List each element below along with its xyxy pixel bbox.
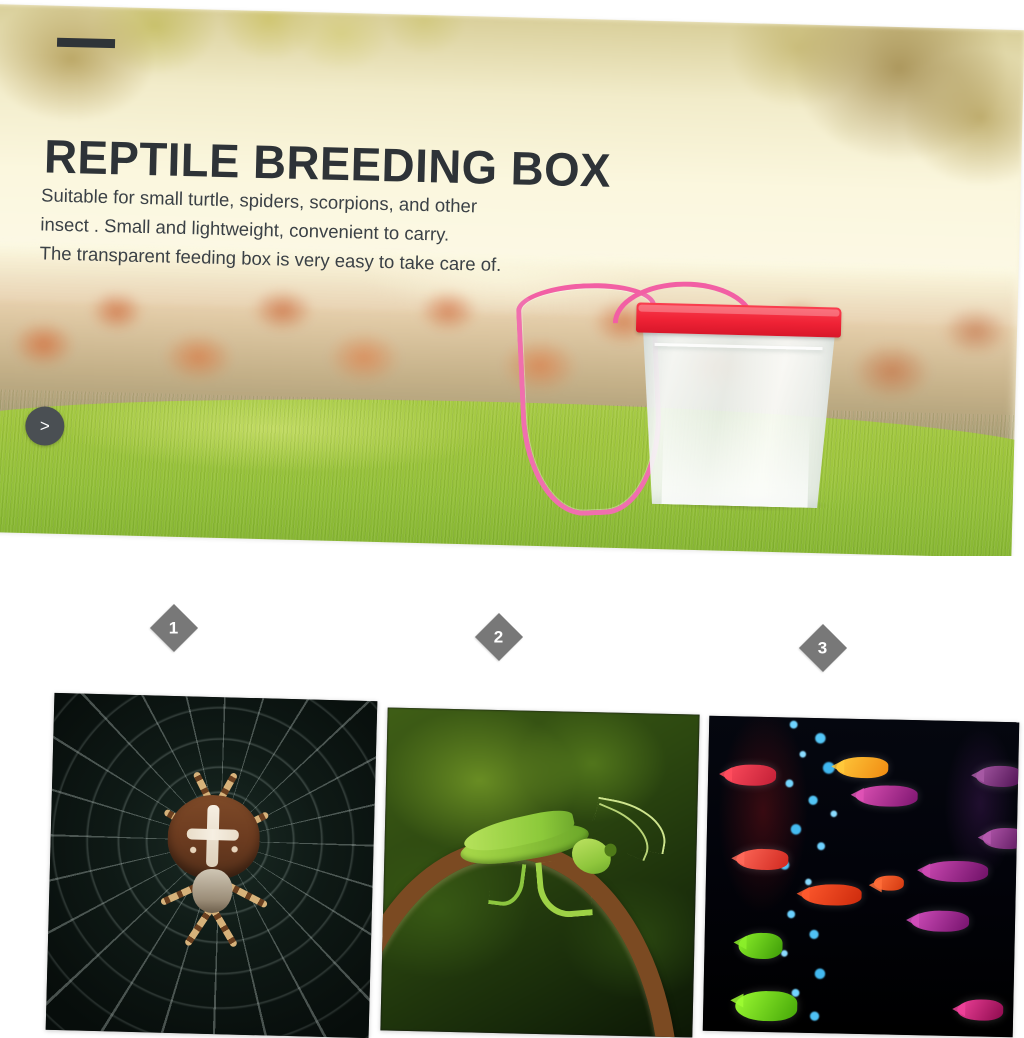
breeding-box-body: [639, 329, 835, 509]
hero-background-grass: [0, 388, 1024, 558]
fish-icon: [724, 764, 776, 786]
fish-icon: [874, 875, 904, 891]
mantis-illustration: [457, 793, 641, 939]
product-image: [513, 275, 859, 534]
hero-banner: REPTILE BREEDING BOX Suitable for small …: [0, 4, 1024, 558]
badge-number-label: 2: [494, 629, 503, 646]
badge-number-label: 3: [818, 640, 827, 657]
thumbnail-image-spider[interactable]: [46, 693, 378, 1038]
chevron-right-icon: >: [40, 417, 50, 434]
thumbnail-badge-3[interactable]: 3: [799, 624, 847, 672]
fish-icon: [735, 990, 798, 1021]
thumbnail-badge-2[interactable]: 2: [475, 613, 523, 661]
spider-illustration: [135, 775, 289, 929]
thumbnail-image-fish[interactable]: [703, 716, 1020, 1037]
thumbnail-image-mantis[interactable]: [380, 708, 699, 1038]
hero-description: Suitable for small turtle, spiders, scor…: [39, 180, 641, 282]
fish-icon: [836, 756, 888, 778]
accent-dash: [57, 38, 115, 48]
thumbnail-badge-1[interactable]: 1: [150, 604, 198, 652]
fish-icon: [738, 932, 783, 959]
badge-number-label: 1: [169, 620, 178, 637]
fish-icon: [736, 848, 788, 870]
section-divider: [0, 556, 1024, 598]
breeding-box-lid: [636, 302, 842, 337]
